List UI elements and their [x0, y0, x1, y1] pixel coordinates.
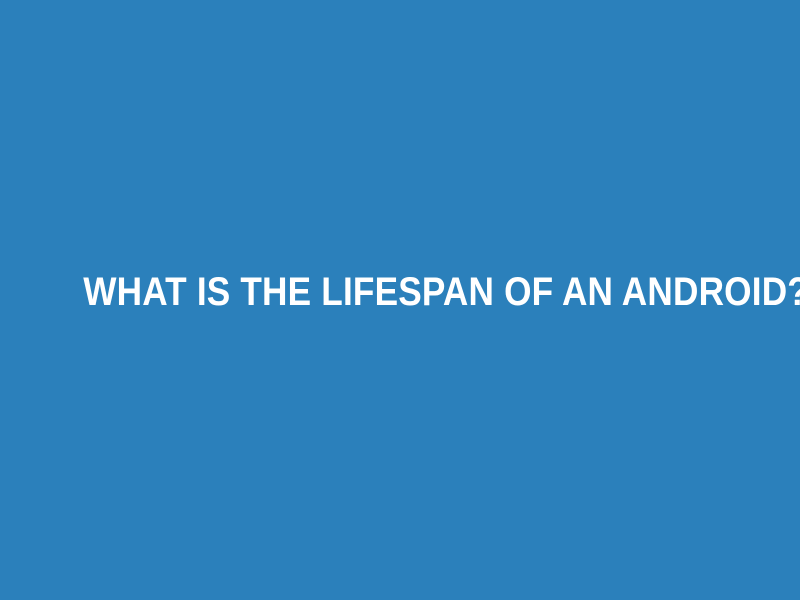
page-title: WHAT IS THE LIFESPAN OF AN ANDROID?	[83, 270, 717, 314]
hero-banner: WHAT IS THE LIFESPAN OF AN ANDROID?	[0, 0, 800, 600]
hero-content: WHAT IS THE LIFESPAN OF AN ANDROID?	[0, 270, 800, 314]
